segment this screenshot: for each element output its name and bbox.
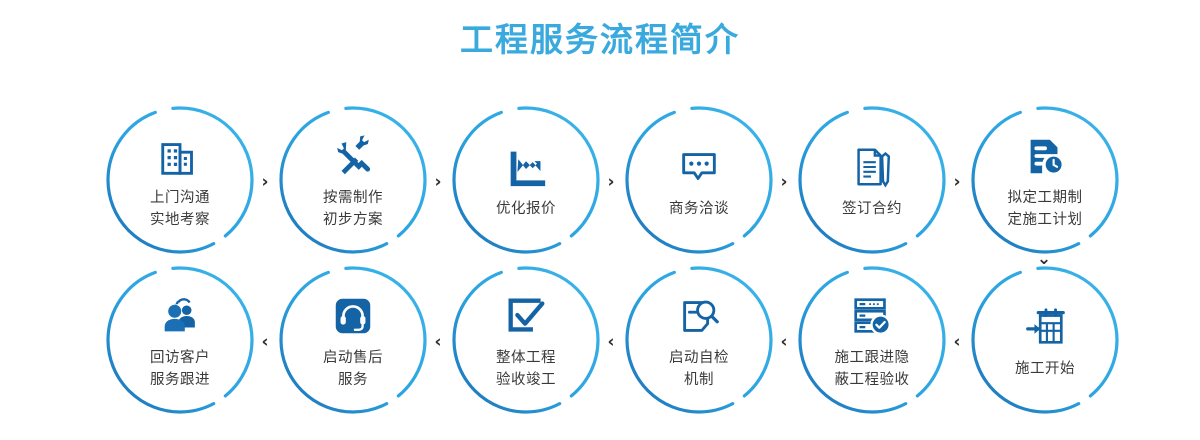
flow-node-2[interactable]: 按需制作 初步方案 [277,104,429,256]
connector-arrow-right: › [947,172,967,192]
flow-node-label: 按需制作 初步方案 [323,188,383,230]
flow-node-10[interactable]: 整体工程 验收竣工 [450,264,602,416]
flow-node-5[interactable]: 签订合约 [796,104,948,256]
flow-node-1[interactable]: 上门沟通 实地考察 [104,104,256,256]
flow-node-4[interactable]: 商务洽谈 [623,104,775,256]
flow-node-12[interactable]: 回访客户 服务跟进 [104,264,256,416]
flow-node-label: 拟定工期制 定施工计划 [1008,188,1083,230]
tools-wrench-icon [327,131,379,181]
server-check-icon [846,291,898,341]
building-icon [154,131,206,181]
flow-node-label: 整体工程 验收竣工 [496,348,556,390]
connector-arrow-left: ‹ [255,332,275,352]
document-search-icon [673,291,725,341]
document-pen-icon [846,142,898,192]
flow-node-label: 启动自检 机制 [669,348,729,390]
speech-bubble-icon [673,142,725,192]
connector-arrow-left: ‹ [601,332,621,352]
calendar-start-icon [1019,302,1071,352]
chart-down-icon [500,142,552,192]
flow-node-label: 回访客户 服务跟进 [150,348,210,390]
flow-node-label: 商务洽谈 [669,199,729,220]
flow-node-label: 施工开始 [1015,359,1075,380]
connector-arrow-right: › [601,172,621,192]
flow-node-label: 优化报价 [496,199,556,220]
connector-arrow-right: › [428,172,448,192]
document-clock-icon [1019,131,1071,181]
flow-node-9[interactable]: 启动自检 机制 [623,264,775,416]
flow-node-11[interactable]: 启动售后 服务 [277,264,429,416]
page-title: 工程服务流程简介 [0,20,1200,60]
flow-row-top: 上门沟通 实地考察 › 按 [0,100,1200,260]
flow-node-label: 上门沟通 实地考察 [150,188,210,230]
flow-node-label: 签订合约 [842,199,902,220]
connector-arrow-right: › [774,172,794,192]
connector-arrow-left: ‹ [428,332,448,352]
flow-node-8[interactable]: 施工跟进隐 蔽工程验收 [796,264,948,416]
connector-arrow-left: ‹ [947,332,967,352]
headset-support-icon [327,291,379,341]
users-followup-icon [154,291,206,341]
flow-node-label: 启动售后 服务 [323,348,383,390]
connector-arrow-right: › [255,172,275,192]
flow-node-3[interactable]: 优化报价 [450,104,602,256]
flow-node-6[interactable]: 拟定工期制 定施工计划 [969,104,1121,256]
checkbox-check-icon [500,291,552,341]
flow-node-7[interactable]: 施工开始 [969,264,1121,416]
process-flow-infographic: 工程服务流程简介 [0,0,1200,440]
connector-arrow-left: ‹ [774,332,794,352]
flow-row-bottom: 回访客户 服务跟进 ‹ [0,260,1200,420]
flow-node-label: 施工跟进隐 蔽工程验收 [835,348,910,390]
